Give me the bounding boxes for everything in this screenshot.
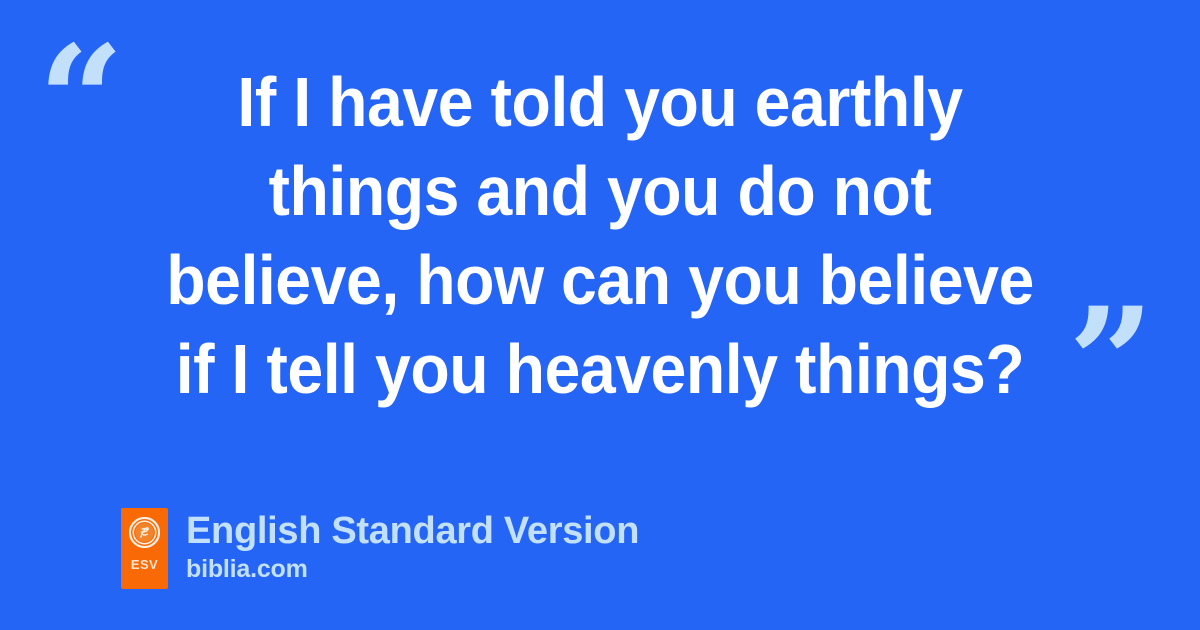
bible-verse-quote-card: “ If I have told you earthly things and … [0, 0, 1200, 630]
quote-line: believe, how can you believe [107, 236, 1093, 325]
quote-line: if I tell you heavenly things? [107, 325, 1093, 414]
esv-seal-icon [129, 517, 160, 548]
attribution-text: English Standard Version biblia.com [186, 508, 639, 584]
quote-text-block: If I have told you earthly things and yo… [0, 58, 1200, 414]
esv-brand-badge: ESV [121, 508, 168, 589]
quote-line: things and you do not [107, 147, 1093, 236]
close-quote-icon: ” [1068, 288, 1154, 438]
site-url-label[interactable]: biblia.com [186, 554, 639, 584]
quote-line: If I have told you earthly [107, 58, 1093, 147]
attribution[interactable]: ESV English Standard Version biblia.com [121, 508, 639, 589]
bible-version-name: English Standard Version [186, 510, 639, 552]
esv-badge-label: ESV [131, 558, 158, 571]
